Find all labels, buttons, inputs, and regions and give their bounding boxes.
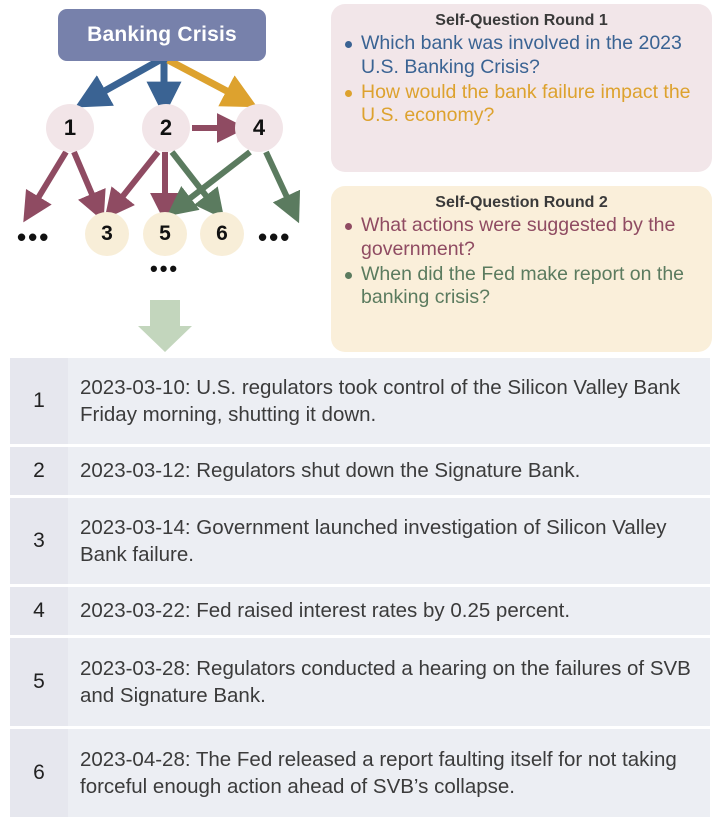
row-index: 6 bbox=[10, 729, 68, 817]
event-table: 1 2023-03-10: U.S. regulators took contr… bbox=[10, 358, 710, 820]
row-text: 2023-03-28: Regulators conducted a heari… bbox=[68, 638, 710, 726]
row-index: 5 bbox=[10, 638, 68, 726]
question-item: What actions were suggested by the gover… bbox=[343, 214, 700, 262]
row-index: 3 bbox=[10, 498, 68, 584]
table-row: 1 2023-03-10: U.S. regulators took contr… bbox=[10, 358, 710, 444]
question-item: Which bank was involved in the 2023 U.S.… bbox=[343, 32, 700, 80]
row-index: 1 bbox=[10, 358, 68, 444]
table-row: 6 2023-04-28: The Fed released a report … bbox=[10, 729, 710, 817]
question-item: How would the bank failure impact the U.… bbox=[343, 81, 700, 129]
row-text: 2023-03-14: Government launched investig… bbox=[68, 498, 710, 584]
edge-root-to-4 bbox=[168, 60, 240, 98]
ellipsis-middle: ••• bbox=[150, 258, 179, 280]
table-row: 4 2023-03-22: Fed raised interest rates … bbox=[10, 587, 710, 635]
flow-down-arrow-icon bbox=[138, 300, 192, 352]
edge-2-to-3 bbox=[115, 152, 158, 206]
question-list-round-1: Which bank was involved in the 2023 U.S.… bbox=[343, 32, 700, 128]
panel-title-round-1: Self-Question Round 1 bbox=[343, 12, 700, 30]
table-row: 2 2023-03-12: Regulators shut down the S… bbox=[10, 447, 710, 495]
ellipsis-left: ••• bbox=[17, 224, 50, 250]
row-index: 2 bbox=[10, 447, 68, 495]
edge-root-to-1 bbox=[92, 60, 160, 98]
root-node-banking-crisis: Banking Crisis bbox=[58, 9, 266, 61]
graph-node-6: 6 bbox=[200, 212, 244, 256]
ellipsis-right: ••• bbox=[258, 224, 291, 250]
table-row: 3 2023-03-14: Government launched invest… bbox=[10, 498, 710, 584]
graph-node-4: 4 bbox=[235, 104, 283, 152]
graph-diagram: Banking Crisis 1 2 4 3 5 6 ••• ••• ••• bbox=[0, 0, 330, 356]
panel-title-round-2: Self-Question Round 2 bbox=[343, 194, 700, 212]
question-list-round-2: What actions were suggested by the gover… bbox=[343, 214, 700, 310]
self-question-round-1-panel: Self-Question Round 1 Which bank was inv… bbox=[331, 4, 712, 172]
graph-node-2: 2 bbox=[142, 104, 190, 152]
table-row: 5 2023-03-28: Regulators conducted a hea… bbox=[10, 638, 710, 726]
graph-node-1: 1 bbox=[46, 104, 94, 152]
graph-node-5: 5 bbox=[143, 212, 187, 256]
edge-4-to-ellipsis bbox=[266, 152, 292, 208]
root-node-label: Banking Crisis bbox=[87, 23, 237, 47]
edge-1-to-3 bbox=[74, 152, 97, 206]
row-index: 4 bbox=[10, 587, 68, 635]
row-text: 2023-04-28: The Fed released a report fa… bbox=[68, 729, 710, 817]
edge-1-to-ellipsis bbox=[32, 152, 66, 208]
self-question-round-2-panel: Self-Question Round 2 What actions were … bbox=[331, 186, 712, 352]
row-text: 2023-03-12: Regulators shut down the Sig… bbox=[68, 447, 710, 495]
question-item: When did the Fed make report on the bank… bbox=[343, 263, 700, 311]
graph-node-3: 3 bbox=[85, 212, 129, 256]
row-text: 2023-03-22: Fed raised interest rates by… bbox=[68, 587, 710, 635]
row-text: 2023-03-10: U.S. regulators took control… bbox=[68, 358, 710, 444]
